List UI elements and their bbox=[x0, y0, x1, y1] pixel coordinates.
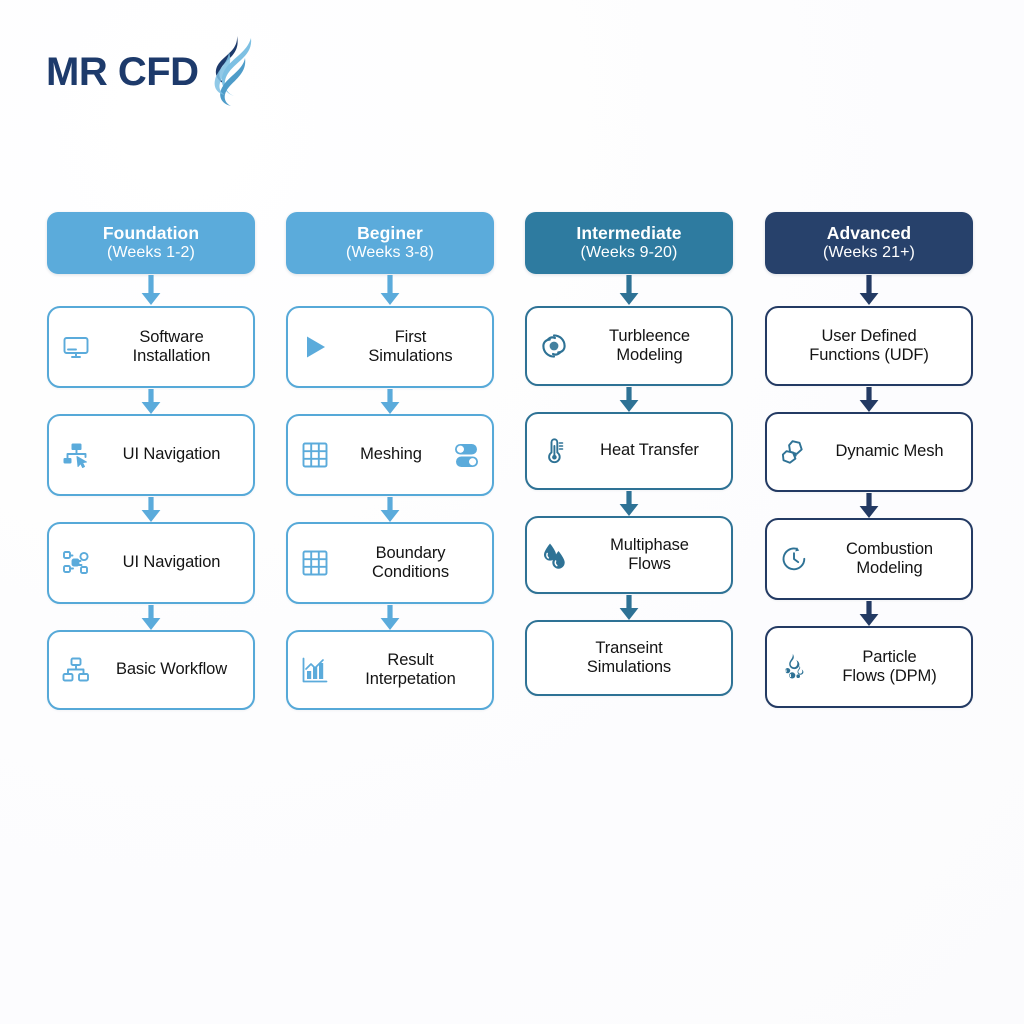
roadmap-column-beginer: Beginer(Weeks 3-8)FirstSimulationsMeshin… bbox=[286, 212, 494, 710]
topic-card[interactable]: UI Navigation bbox=[47, 522, 255, 604]
flow-arrow-down-icon bbox=[286, 274, 494, 306]
topic-card[interactable]: SoftwareInstallation bbox=[47, 306, 255, 388]
column-header-subtitle: (Weeks 3-8) bbox=[346, 244, 434, 263]
topic-card-label: Heat Transfer bbox=[578, 441, 721, 460]
column-header-beginer[interactable]: Beginer(Weeks 3-8) bbox=[286, 212, 494, 274]
topic-card[interactable]: Heat Transfer bbox=[525, 412, 733, 490]
topic-card-label: FirstSimulations bbox=[339, 328, 482, 367]
topic-card[interactable]: Dynamic Mesh bbox=[765, 412, 973, 492]
node-graph-icon bbox=[61, 548, 91, 578]
topic-card-label: User DefinedFunctions (UDF) bbox=[775, 327, 963, 366]
topic-card[interactable]: Meshing bbox=[286, 414, 494, 496]
grid-icon bbox=[300, 440, 330, 470]
roadmap-column-advanced: Advanced(Weeks 21+)User DefinedFunctions… bbox=[765, 212, 973, 708]
column-header-foundation[interactable]: Foundation(Weeks 1-2) bbox=[47, 212, 255, 274]
topic-card[interactable]: MultiphaseFlows bbox=[525, 516, 733, 594]
topic-card-label: Dynamic Mesh bbox=[818, 442, 961, 461]
topic-card-label: Meshing bbox=[339, 445, 443, 464]
polygon-mesh-icon bbox=[779, 437, 809, 467]
flow-arrow-down-icon bbox=[765, 600, 973, 626]
flow-arrow-down-icon bbox=[765, 386, 973, 412]
topic-card[interactable]: TurbleenceModeling bbox=[525, 306, 733, 386]
roadmap-flowchart: Foundation(Weeks 1-2)SoftwareInstallatio… bbox=[0, 0, 1024, 1024]
topic-card-label: UI Navigation bbox=[100, 445, 243, 464]
thermometer-icon bbox=[539, 436, 569, 466]
topic-card[interactable]: ParticleFlows (DPM) bbox=[765, 626, 973, 708]
column-header-advanced[interactable]: Advanced(Weeks 21+) bbox=[765, 212, 973, 274]
roadmap-column-foundation: Foundation(Weeks 1-2)SoftwareInstallatio… bbox=[47, 212, 255, 710]
flow-arrow-down-icon bbox=[765, 492, 973, 518]
column-header-title: Beginer bbox=[357, 223, 423, 244]
topic-card-label: ParticleFlows (DPM) bbox=[818, 648, 961, 687]
flow-arrow-down-icon bbox=[47, 388, 255, 414]
flow-arrow-down-icon bbox=[525, 386, 733, 412]
topic-card[interactable]: TranseintSimulations bbox=[525, 620, 733, 696]
topic-card[interactable]: ResultInterpetation bbox=[286, 630, 494, 710]
grid-icon bbox=[300, 548, 330, 578]
vortex-icon bbox=[539, 331, 569, 361]
topic-card-label: ResultInterpetation bbox=[339, 651, 482, 690]
droplets-icon bbox=[539, 540, 569, 570]
flow-arrow-down-icon bbox=[525, 594, 733, 620]
topic-card[interactable]: Basic Workflow bbox=[47, 630, 255, 710]
flow-arrow-down-icon bbox=[286, 496, 494, 522]
flow-arrow-down-icon bbox=[286, 604, 494, 630]
flow-arrow-down-icon bbox=[47, 496, 255, 522]
topic-card[interactable]: BoundaryConditions bbox=[286, 522, 494, 604]
monitor-icon bbox=[61, 332, 91, 362]
column-header-title: Foundation bbox=[103, 223, 199, 244]
topic-card-label: BoundaryConditions bbox=[339, 544, 482, 583]
play-icon bbox=[300, 332, 330, 362]
column-header-title: Intermediate bbox=[576, 223, 681, 244]
bar-chart-icon bbox=[300, 655, 330, 685]
topic-card-label: TurbleenceModeling bbox=[578, 327, 721, 366]
column-header-intermediate[interactable]: Intermediate(Weeks 9-20) bbox=[525, 212, 733, 274]
topic-card[interactable]: CombustionModeling bbox=[765, 518, 973, 600]
column-header-title: Advanced bbox=[827, 223, 911, 244]
column-header-subtitle: (Weeks 9-20) bbox=[581, 244, 678, 263]
column-header-subtitle: (Weeks 1-2) bbox=[107, 244, 195, 263]
column-header-subtitle: (Weeks 21+) bbox=[823, 244, 915, 263]
roadmap-column-intermediate: Intermediate(Weeks 9-20)TurbleenceModeli… bbox=[525, 212, 733, 696]
topic-card-label: MultiphaseFlows bbox=[578, 536, 721, 575]
flame-particles-icon bbox=[779, 652, 809, 682]
flow-arrow-down-icon bbox=[525, 274, 733, 306]
topic-card[interactable]: User DefinedFunctions (UDF) bbox=[765, 306, 973, 386]
flow-arrow-down-icon bbox=[765, 274, 973, 306]
topic-card-label: SoftwareInstallation bbox=[100, 328, 243, 367]
topic-card[interactable]: FirstSimulations bbox=[286, 306, 494, 388]
topic-card-label: TranseintSimulations bbox=[535, 639, 723, 678]
hierarchy-icon bbox=[61, 655, 91, 685]
flow-arrow-down-icon bbox=[286, 388, 494, 414]
topic-card-label: CombustionModeling bbox=[818, 540, 961, 579]
flow-arrow-down-icon bbox=[47, 274, 255, 306]
flow-arrow-down-icon bbox=[525, 490, 733, 516]
sitemap-cursor-icon bbox=[61, 440, 91, 470]
topic-card-label: UI Navigation bbox=[100, 553, 243, 572]
flow-arrow-down-icon bbox=[47, 604, 255, 630]
topic-card-label: Basic Workflow bbox=[100, 660, 243, 679]
topic-card[interactable]: UI Navigation bbox=[47, 414, 255, 496]
timer-icon bbox=[779, 544, 809, 574]
toggles-icon[interactable] bbox=[452, 440, 482, 470]
